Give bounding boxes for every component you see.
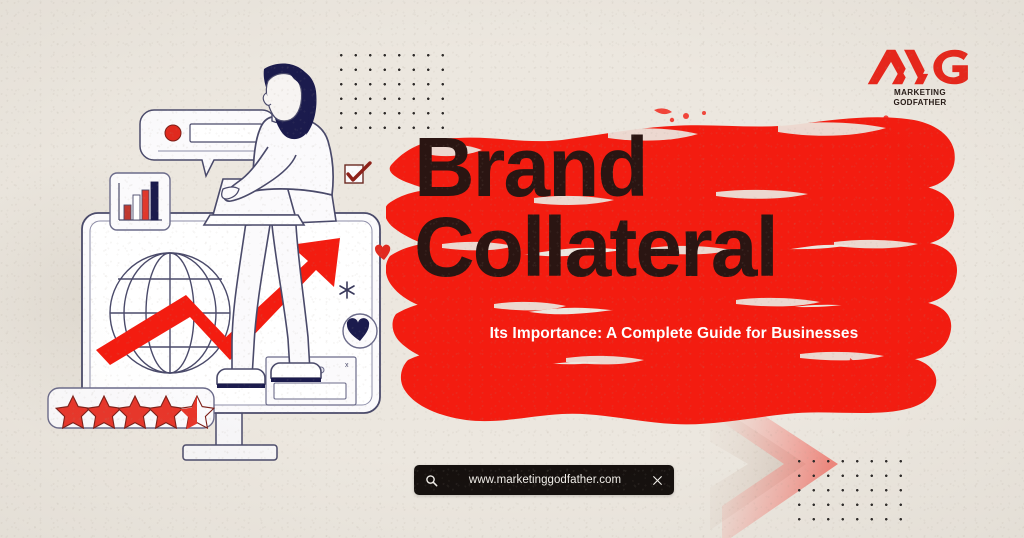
headline-line-2: Collateral <box>414 208 974 286</box>
dot-grid-bottom-right <box>790 452 910 524</box>
brand-logo[interactable]: MARKETING GODFATHER <box>866 48 974 106</box>
close-icon[interactable] <box>652 475 663 486</box>
heart-badge <box>343 314 377 348</box>
url-search-bar[interactable]: www.marketinggodfather.com <box>414 465 674 495</box>
search-input[interactable]: www.marketinggodfather.com <box>447 474 643 486</box>
mini-bar-chart-card <box>110 173 170 230</box>
page-title: Brand Collateral <box>414 128 974 286</box>
logo-wordmark: MARKETING GODFATHER <box>869 87 971 107</box>
search-icon[interactable] <box>425 474 438 487</box>
headline-subtitle: Its Importance: A Complete Guide for Bus… <box>414 322 934 346</box>
mg-monogram-icon <box>866 48 970 86</box>
svg-text:x: x <box>345 362 349 369</box>
headline-line-1: Brand <box>414 128 974 206</box>
hero-illustration: x <box>40 55 420 480</box>
poster-canvas: Brand Collateral Its Importance: A Compl… <box>0 0 1024 538</box>
checkmark-box <box>345 163 370 183</box>
star-rating <box>48 388 214 429</box>
